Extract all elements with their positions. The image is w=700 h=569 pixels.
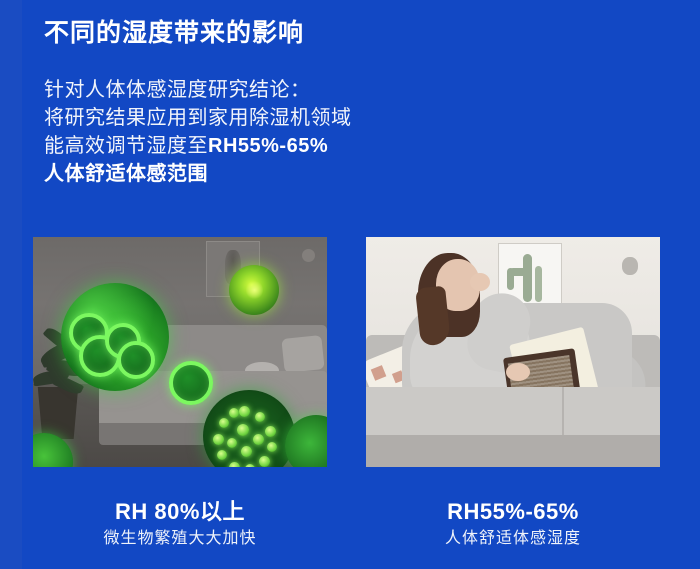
wall-speaker-icon <box>622 257 638 275</box>
photo-high-humidity <box>33 237 327 467</box>
microbe-spike <box>217 450 227 460</box>
person-hand <box>506 363 530 381</box>
caption-title: RH55%-65% <box>366 498 660 526</box>
body-line-1: 针对人体体感湿度研究结论： <box>44 76 352 104</box>
photo-comfort-humidity <box>366 237 660 467</box>
sofa-seam <box>562 387 564 439</box>
sofa-pillow <box>281 335 324 373</box>
body-line-3-normal: 能高效调节湿度至 <box>44 135 208 157</box>
caption-comfort-humidity: RH55%-65% 人体舒适体感湿度 <box>366 498 660 552</box>
body-line-3: 能高效调节湿度至RH55%-65% <box>44 132 352 160</box>
cactus-icon <box>523 254 532 302</box>
caption-subtitle: 人体舒适体感湿度 <box>366 526 660 552</box>
microbe-spike <box>239 406 250 417</box>
microbe-spike <box>265 426 276 437</box>
caption-high-humidity: RH 80%以上 微生物繁殖大大加快 <box>33 498 327 552</box>
microbe-spike <box>253 434 264 445</box>
caption-title: RH 80%以上 <box>33 498 327 526</box>
body-line-4: 人体舒适体感范围 <box>44 160 352 188</box>
person-hand <box>470 273 490 291</box>
microbe-spike <box>245 464 255 467</box>
microbe-sphere-wall <box>229 265 279 315</box>
microbe-spike <box>255 412 265 422</box>
body-copy: 针对人体体感湿度研究结论： 将研究结果应用到家用除湿机领域 能高效调节湿度至RH… <box>44 76 352 188</box>
microbe-spike <box>229 462 240 467</box>
caption-subtitle: 微生物繁殖大大加快 <box>33 526 327 552</box>
microbe-spike <box>259 456 270 467</box>
microbe-spike <box>229 408 239 418</box>
poster-root: 不同的湿度带来的影响 针对人体体感湿度研究结论： 将研究结果应用到家用除湿机领域… <box>0 0 700 569</box>
person-hair-strand <box>415 286 451 347</box>
microbe-spike <box>227 438 237 448</box>
microbe-spike <box>241 446 252 457</box>
wall-device-icon <box>302 249 315 262</box>
sofa-seat <box>366 387 660 439</box>
microbe-spike <box>213 434 224 445</box>
plant-pot <box>35 387 81 439</box>
microbe-spike <box>267 442 277 452</box>
left-edge-strip <box>0 0 22 569</box>
sofa-base <box>366 435 660 467</box>
microbe-cell <box>117 341 155 379</box>
body-line-3-highlight: RH55%-65% <box>208 135 328 157</box>
microbe-spike <box>219 418 229 428</box>
cactus-icon <box>535 266 542 302</box>
microbe-cell <box>169 361 213 405</box>
microbe-sphere-large <box>61 283 169 391</box>
page-title: 不同的湿度带来的影响 <box>44 16 304 50</box>
microbe-spike <box>237 424 249 436</box>
body-line-2: 将研究结果应用到家用除湿机领域 <box>44 104 352 132</box>
